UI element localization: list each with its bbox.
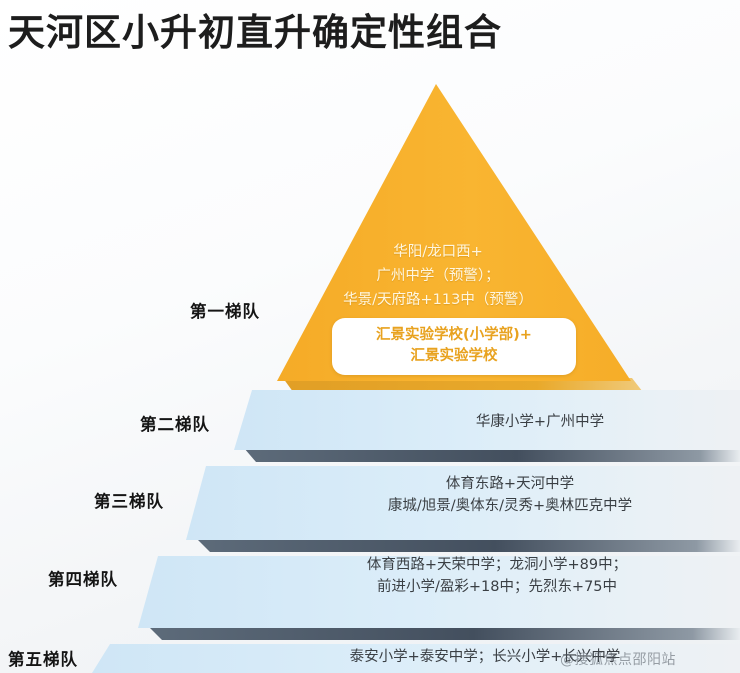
tier-1-line-1: 华阳/龙口西+ xyxy=(278,240,598,264)
tier-5-label: 第五梯队 xyxy=(8,646,78,670)
tier-3-body: 体育东路+天河中学 康城/旭景/奥体东/灵秀+奥林匹克中学 xyxy=(275,473,740,517)
tier-1-highlight-line-2: 汇景实验学校 xyxy=(342,346,566,367)
tier-1-highlight-chip: 汇景实验学校(小学部)+ 汇景实验学校 xyxy=(332,318,576,375)
tier-2-line-1: 华康小学+广州中学 xyxy=(330,411,740,433)
tier-3-shadow xyxy=(196,538,740,552)
tier-4-label: 第四梯队 xyxy=(48,566,118,590)
tier-3-line-2: 康城/旭景/奥体东/灵秀+奥林匹克中学 xyxy=(275,495,740,517)
tier-1-body: 华阳/龙口西+ 广州中学（预警）； 华景/天府路+113中（预警） xyxy=(278,240,598,312)
tier-1-label: 第一梯队 xyxy=(190,298,260,322)
tier-4-shadow xyxy=(148,626,740,640)
tier-4-body: 体育西路+天荣中学；龙洞小学+89中； 前进小学/盈彩+18中；先烈东+75中 xyxy=(262,554,732,598)
tier-4-line-1: 体育西路+天荣中学；龙洞小学+89中； xyxy=(262,554,732,576)
watermark: @搜狐焦点邵阳站 xyxy=(560,649,676,669)
tier-3-line-1: 体育东路+天河中学 xyxy=(275,473,740,495)
tier-1-line-2: 广州中学（预警）； xyxy=(278,264,598,288)
tier-2-shadow xyxy=(244,448,740,462)
tier-1-highlight-line-1: 汇景实验学校(小学部)+ xyxy=(342,325,566,346)
tier-1-line-3: 华景/天府路+113中（预警） xyxy=(278,288,598,312)
tier-3-label: 第三梯队 xyxy=(94,488,164,512)
infographic-canvas: 天河区小升初直升确定性组合 xyxy=(0,0,740,673)
tier-2-label: 第二梯队 xyxy=(140,411,210,435)
tier-4-line-2: 前进小学/盈彩+18中；先烈东+75中 xyxy=(262,576,732,598)
tier-2-body: 华康小学+广州中学 xyxy=(330,411,740,433)
